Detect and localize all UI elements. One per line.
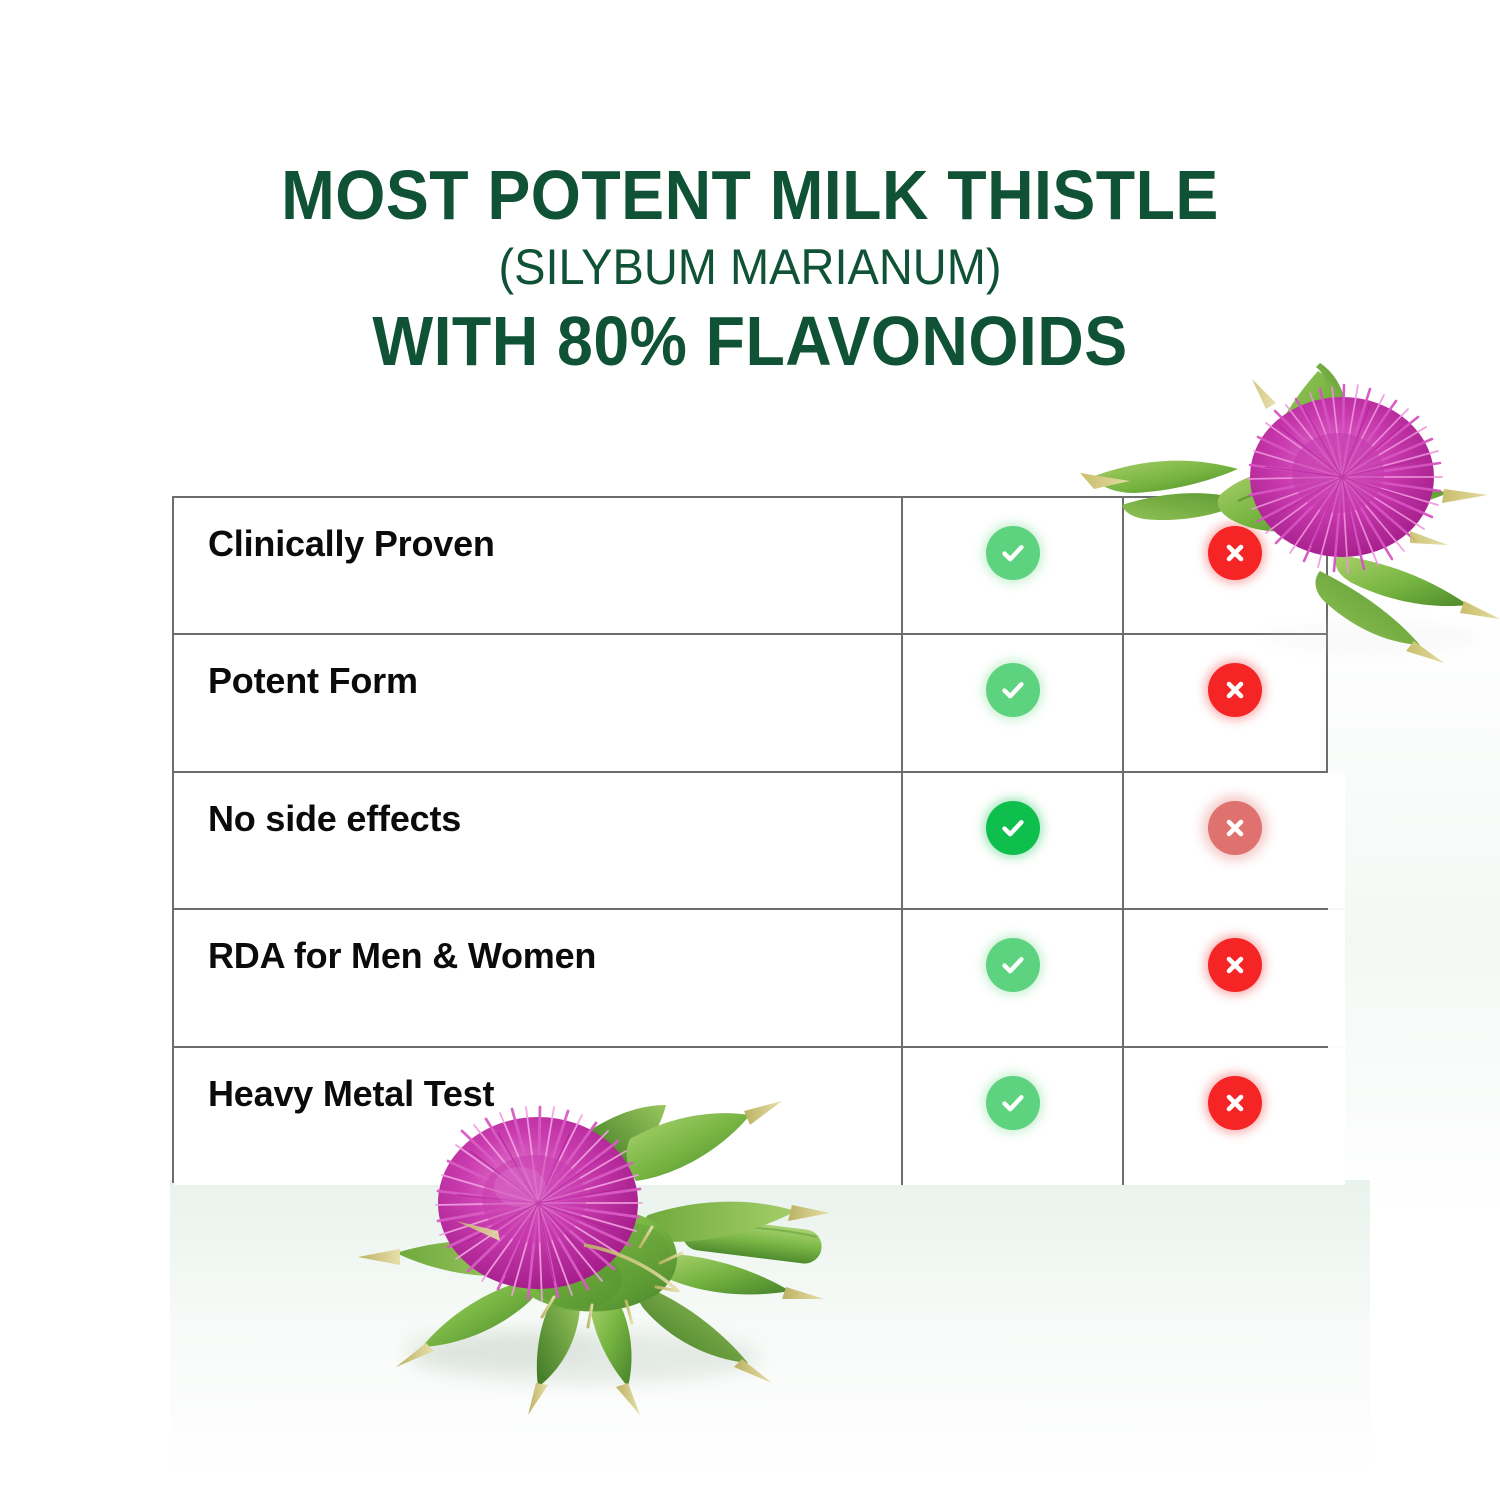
table-cell-others	[1124, 498, 1345, 633]
check-icon	[986, 801, 1040, 855]
table-row: Potent Form	[174, 635, 1326, 772]
table-cell-others	[1124, 635, 1345, 770]
check-icon	[986, 938, 1040, 992]
table-cell-ours	[903, 498, 1124, 633]
background-wash-right	[1320, 600, 1500, 1220]
table-cell-feature: Potent Form	[174, 635, 903, 770]
table-cell-ours	[903, 635, 1124, 770]
table-cell-feature: RDA for Men & Women	[174, 910, 903, 1045]
feature-label: No side effects	[208, 799, 461, 839]
cross-icon	[1208, 1076, 1262, 1130]
table-cell-feature: No side effects	[174, 773, 903, 908]
check-icon	[986, 663, 1040, 717]
table-cell-others	[1124, 1048, 1345, 1185]
check-icon	[986, 526, 1040, 580]
title-line-3: WITH 80% FLAVONOIDS	[60, 306, 1440, 376]
title-line-2-botanical-name: (SILYBUM MARIANUM)	[45, 242, 1455, 292]
check-icon	[986, 1076, 1040, 1130]
table-cell-ours	[903, 773, 1124, 908]
cross-icon	[1208, 526, 1262, 580]
table-row: Clinically Proven	[174, 498, 1326, 635]
feature-label: Clinically Proven	[208, 524, 495, 564]
title-line-1: MOST POTENT MILK THISTLE	[60, 160, 1440, 230]
table-cell-feature: Heavy Metal Test	[174, 1048, 903, 1185]
table-cell-feature: Clinically Proven	[174, 498, 903, 633]
table-cell-others	[1124, 910, 1345, 1045]
page-title: MOST POTENT MILK THISTLE (SILYBUM MARIAN…	[0, 160, 1500, 376]
feature-label: RDA for Men & Women	[208, 936, 596, 976]
table-row: RDA for Men & Women	[174, 910, 1326, 1047]
background-wash-bottom	[170, 1180, 1370, 1480]
table-row: No side effects	[174, 773, 1326, 910]
table-cell-others	[1124, 773, 1345, 908]
feature-label: Heavy Metal Test	[208, 1074, 494, 1114]
cross-icon	[1208, 663, 1262, 717]
table-cell-ours	[903, 910, 1124, 1045]
comparison-table: Clinically Proven Potent Form	[172, 496, 1328, 1183]
cross-icon	[1208, 938, 1262, 992]
table-cell-ours	[903, 1048, 1124, 1185]
table-row: Heavy Metal Test	[174, 1048, 1326, 1185]
cross-icon	[1208, 801, 1262, 855]
feature-label: Potent Form	[208, 661, 418, 701]
